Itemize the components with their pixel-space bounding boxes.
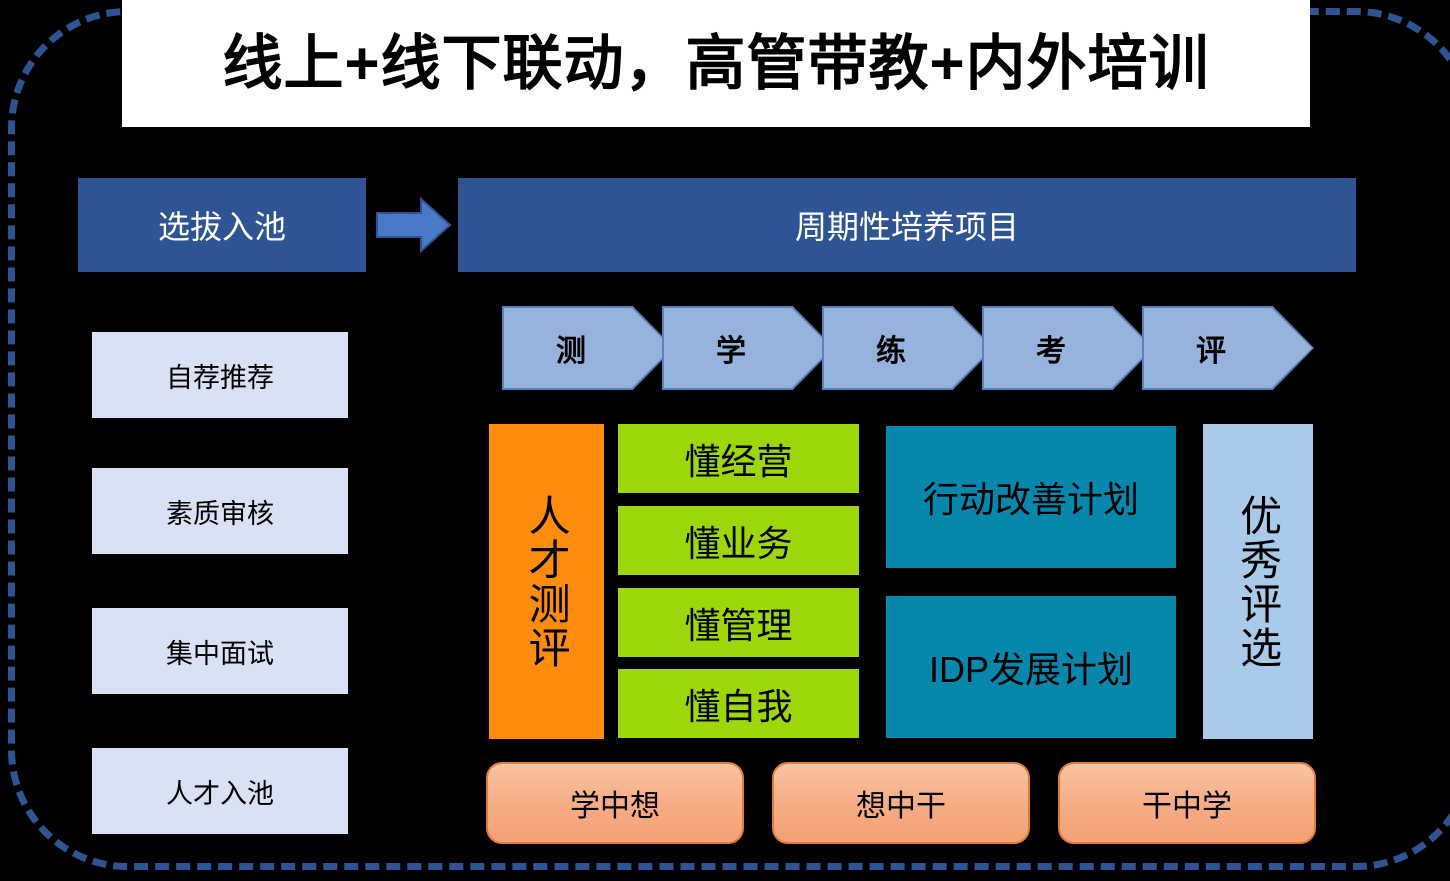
learning-loop-label: 想中干 <box>856 781 946 825</box>
excellence-award-box[interactable]: 优秀评选 <box>1203 424 1313 739</box>
competency-label: 懂业务 <box>684 515 792 567</box>
stage-chevron-label: 学 <box>716 326 746 370</box>
competency-box[interactable]: 懂管理 <box>618 588 859 657</box>
selection-step-label: 人才入池 <box>166 772 274 811</box>
learning-loop-label: 学中想 <box>570 781 660 825</box>
stage-chevron[interactable]: 学 <box>662 306 834 390</box>
stage-chevron[interactable]: 练 <box>822 306 994 390</box>
selection-step-box[interactable]: 人才入池 <box>92 748 348 834</box>
stage-chevron-label: 测 <box>556 326 586 370</box>
excellence-award-label: 优秀评选 <box>1235 494 1280 670</box>
competency-box[interactable]: 懂经营 <box>618 424 859 493</box>
competency-box[interactable]: 懂自我 <box>618 669 859 738</box>
selection-step-label: 自荐推荐 <box>166 356 274 395</box>
page-title: 线上+线下联动，高管带教+内外培训 <box>222 34 1209 94</box>
plan-box[interactable]: 行动改善计划 <box>886 426 1176 568</box>
selection-step-label: 集中面试 <box>166 632 274 671</box>
stage-chevron-body: 评 <box>1144 308 1312 388</box>
learning-loop-box[interactable]: 学中想 <box>486 762 744 844</box>
competency-label: 懂经营 <box>684 433 792 485</box>
learning-loop-box[interactable]: 想中干 <box>772 762 1030 844</box>
stage-chevron-label: 练 <box>876 326 906 370</box>
stage-chevron-body: 学 <box>664 308 832 388</box>
selection-step-box[interactable]: 素质审核 <box>92 468 348 554</box>
stage-chevron[interactable]: 考 <box>982 306 1154 390</box>
stage-chevron-body: 考 <box>984 308 1152 388</box>
plan-label: IDP发展计划 <box>929 641 1133 693</box>
talent-assessment-label: 人才测评 <box>524 494 569 670</box>
competency-label: 懂管理 <box>684 597 792 649</box>
talent-assessment-box[interactable]: 人才测评 <box>489 424 604 739</box>
competency-box[interactable]: 懂业务 <box>618 506 859 575</box>
stage-chevron[interactable]: 评 <box>1142 306 1314 390</box>
plan-label: 行动改善计划 <box>923 471 1139 523</box>
selection-step-box[interactable]: 集中面试 <box>92 608 348 694</box>
stage-chevron-row: 测 学 练 考 评 <box>502 306 1312 390</box>
stage-chevron-label: 评 <box>1196 326 1226 370</box>
learning-loop-box[interactable]: 干中学 <box>1058 762 1316 844</box>
stage-chevron-body: 练 <box>824 308 992 388</box>
section-header-program: 周期性培养项目 <box>458 178 1356 272</box>
section-header-program-label: 周期性培养项目 <box>795 202 1019 248</box>
competency-label: 懂自我 <box>684 678 792 730</box>
section-header-selection-label: 选拔入池 <box>158 202 286 248</box>
plan-box[interactable]: IDP发展计划 <box>886 596 1176 738</box>
stage-chevron-label: 考 <box>1036 326 1066 370</box>
selection-step-box[interactable]: 自荐推荐 <box>92 332 348 418</box>
stage-chevron-body: 测 <box>504 308 672 388</box>
selection-step-label: 素质审核 <box>166 492 274 531</box>
section-header-selection: 选拔入池 <box>78 178 366 272</box>
right-arrow-icon <box>376 196 452 254</box>
title-banner: 线上+线下联动，高管带教+内外培训 <box>122 0 1310 127</box>
diagram-canvas: 线上+线下联动，高管带教+内外培训 选拔入池 周期性培养项目 自荐推荐 素质审核… <box>0 0 1450 881</box>
stage-chevron[interactable]: 测 <box>502 306 674 390</box>
learning-loop-label: 干中学 <box>1142 781 1232 825</box>
